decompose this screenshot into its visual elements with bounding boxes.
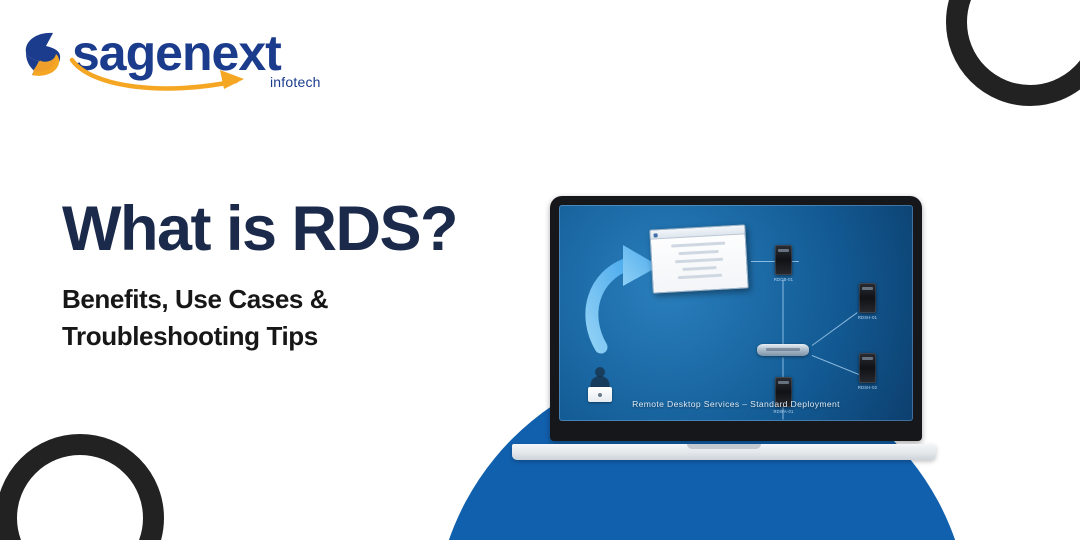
hero-subtitle: Benefits, Use Cases & Troubleshooting Ti… <box>62 281 532 355</box>
hero-subtitle-line-1: Benefits, Use Cases & <box>62 281 532 318</box>
node-label: RDCB-01 <box>774 277 793 282</box>
server-node-right-1: RDSH-01 <box>859 283 876 313</box>
dialog-line <box>679 250 719 255</box>
decorative-ring-top-right <box>946 0 1080 106</box>
decorative-ring-bottom-left <box>0 434 164 540</box>
banner-canvas: sagenext infotech What is RDS? Benefits,… <box>0 0 1080 540</box>
network-switch-icon <box>757 344 809 356</box>
node-label: RDSH-02 <box>858 385 877 390</box>
server-node-right-2: RDSH-02 <box>859 353 876 383</box>
sagenext-s-mark-icon <box>20 30 66 78</box>
laptop-screen: RDCB-01 RDSH-01 RDSH-02 RDWA-01 <box>559 205 913 421</box>
diagram-link <box>783 280 784 348</box>
dialog-line <box>682 266 716 271</box>
laptop-lid: RDCB-01 RDSH-01 RDSH-02 RDWA-01 <box>550 196 922 441</box>
page-title: What is RDS? <box>62 198 532 261</box>
dialog-line <box>671 242 725 248</box>
hero-text-block: What is RDS? Benefits, Use Cases & Troub… <box>62 198 532 355</box>
server-node-top: RDCB-01 <box>775 245 792 275</box>
dialog-line <box>678 274 722 279</box>
dialog-body <box>651 234 748 291</box>
rds-dialog-window[interactable] <box>649 224 748 293</box>
brand-swoosh-arrow-icon <box>68 54 283 96</box>
client-user-icon <box>587 367 613 403</box>
hero-subtitle-line-2: Troubleshooting Tips <box>62 318 532 355</box>
laptop-base-notch <box>687 444 761 449</box>
diagram-link <box>812 312 858 346</box>
diagram-link <box>812 355 864 377</box>
laptop-illustration: RDCB-01 RDSH-01 RDSH-02 RDWA-01 <box>512 196 936 466</box>
node-label: RDSH-01 <box>858 315 877 320</box>
dialog-line <box>675 258 723 264</box>
brand-tagline: infotech <box>270 74 321 90</box>
server-icon <box>775 245 792 275</box>
brand-logo[interactable]: sagenext infotech <box>18 18 318 90</box>
diagram-caption: Remote Desktop Services – Standard Deplo… <box>559 399 913 409</box>
server-icon <box>859 353 876 383</box>
server-icon <box>859 283 876 313</box>
node-label: RDWA-01 <box>773 409 793 414</box>
laptop-base <box>512 444 936 460</box>
